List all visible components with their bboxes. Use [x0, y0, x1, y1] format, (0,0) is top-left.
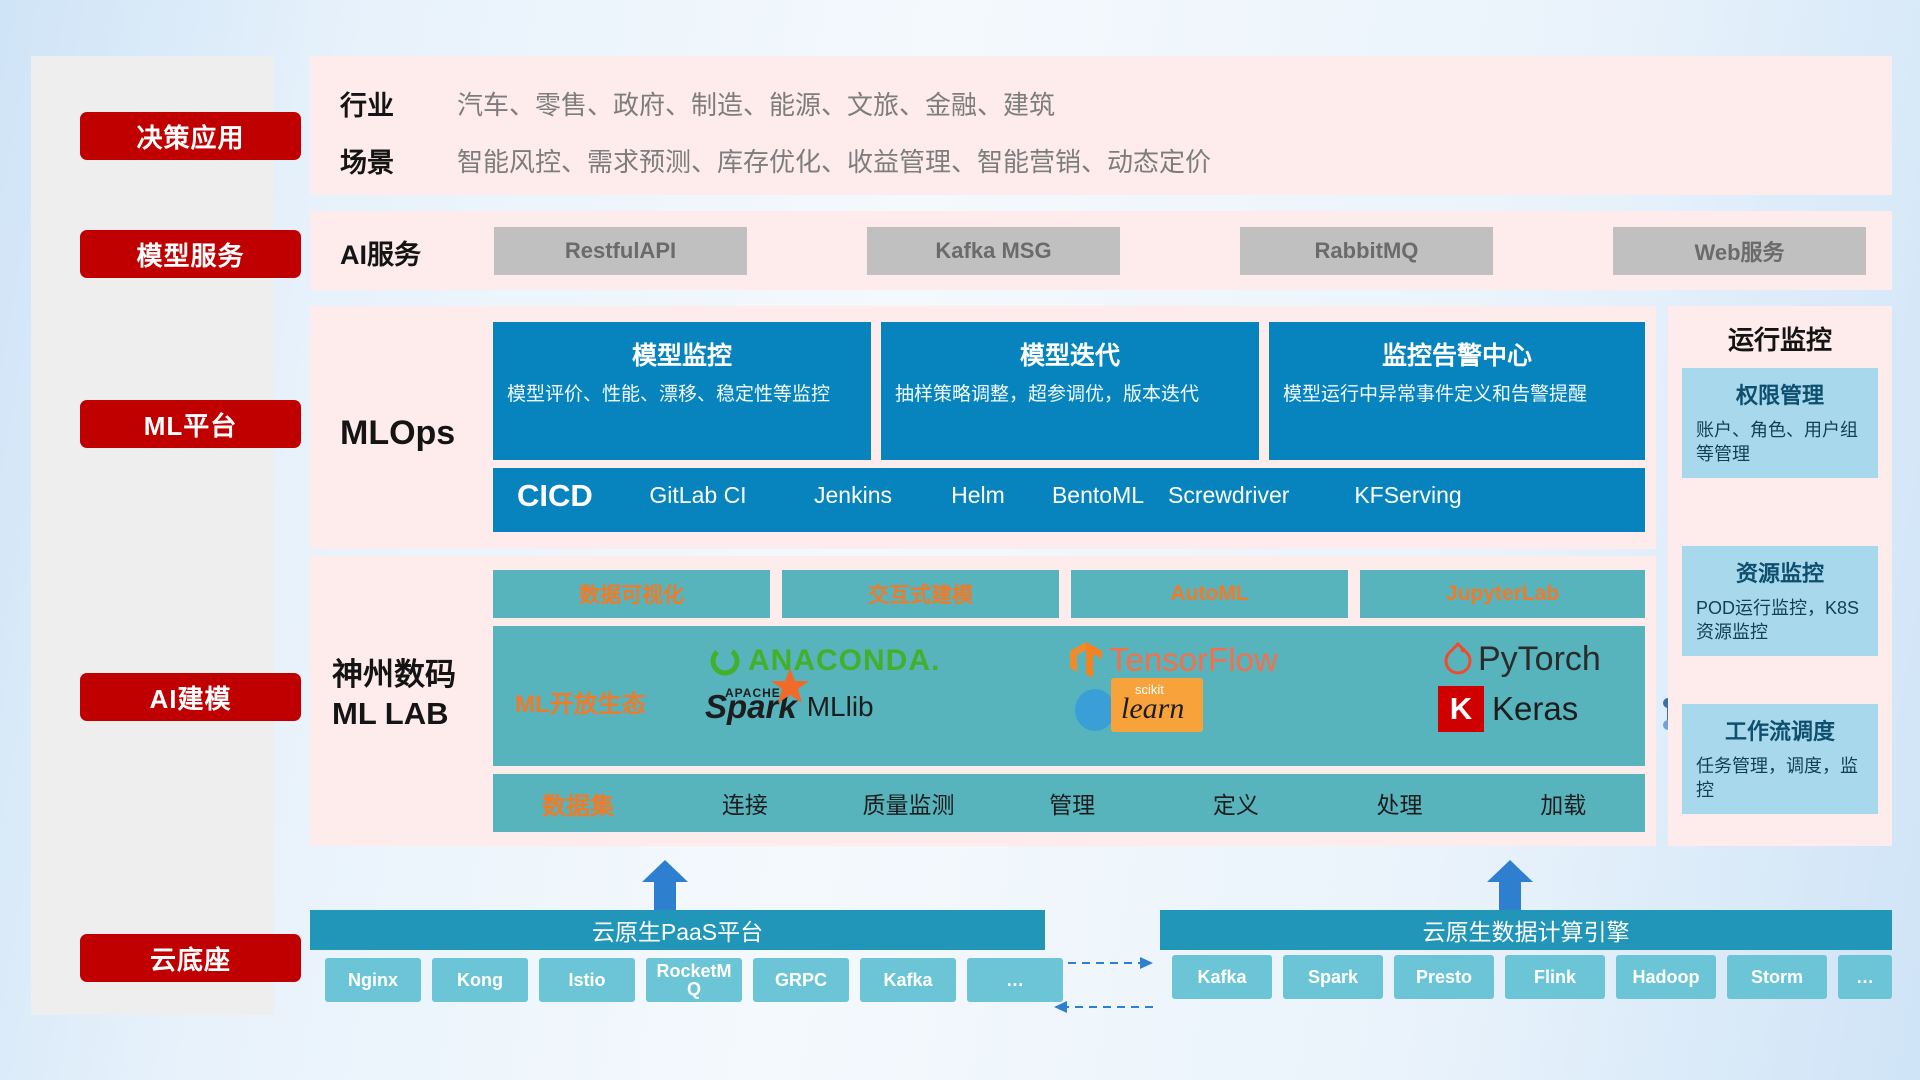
- tensorflow-logo: TensorFlow: [1068, 640, 1278, 680]
- ai-service-rabbitmq[interactable]: RabbitMQ: [1240, 227, 1493, 275]
- tab-automl[interactable]: AutoML: [1071, 570, 1348, 618]
- ml-lab-panel: 神州数码 ML LAB 数据可视化 交互式建模 AutoML JupyterLa…: [310, 556, 1656, 846]
- monitor-card-desc: 账户、角色、用户组等管理: [1696, 418, 1864, 467]
- mlops-card-title: 监控告警中心: [1269, 336, 1645, 372]
- dataset-item-define[interactable]: 定义: [1154, 786, 1318, 820]
- label-decision-app[interactable]: 决策应用: [80, 112, 301, 160]
- mlops-card-model-monitor[interactable]: 模型监控 模型评价、性能、漂移、稳定性等监控: [493, 322, 871, 460]
- ai-service-panel: AI服务 RestfulAPI Kafka MSG RabbitMQ Web服务: [310, 211, 1892, 290]
- mlops-label: MLOps: [340, 414, 455, 453]
- chip-flink[interactable]: Flink: [1505, 955, 1605, 999]
- keras-logo: K Keras: [1438, 686, 1578, 732]
- ml-lab-label-line1: 神州数码: [332, 656, 487, 695]
- runtime-monitoring-title: 运行监控: [1668, 320, 1892, 357]
- chip-storm[interactable]: Storm: [1727, 955, 1827, 999]
- mlops-card-desc: 模型运行中异常事件定义和告警提醒: [1283, 382, 1631, 408]
- scenario-value: 智能风控、需求预测、库存优化、收益管理、智能营销、动态定价: [457, 142, 1211, 179]
- bidirectional-dashed-arrow-icon: [1050, 945, 1155, 1025]
- spark-mllib-logo: APACHE Spark MLlib: [705, 688, 874, 726]
- cicd-item-kfserving[interactable]: KFServing: [1348, 484, 1468, 507]
- scikit-learn-logo: scikit learn: [1073, 686, 1129, 732]
- tab-interactive-modeling[interactable]: 交互式建模: [782, 570, 1059, 618]
- cicd-item-screwdriver[interactable]: Screwdriver: [1168, 484, 1288, 507]
- cicd-bar: CICD GitLab CI Jenkins Helm BentoML Scre…: [493, 468, 1645, 532]
- scikit-learn-wordmark: learn: [1121, 692, 1184, 726]
- cicd-item-gitlab-ci[interactable]: GitLab CI: [638, 484, 758, 507]
- dataset-item-process[interactable]: 处理: [1318, 786, 1482, 820]
- cicd-item-bentoml[interactable]: BentoML: [1038, 484, 1158, 507]
- tensorflow-wordmark: TensorFlow: [1109, 641, 1278, 679]
- scenario-label: 场景: [340, 141, 394, 180]
- monitor-card-title: 权限管理: [1682, 378, 1878, 410]
- label-ml-platform[interactable]: ML平台: [80, 400, 301, 448]
- mlops-card-desc: 模型评价、性能、漂移、稳定性等监控: [507, 382, 857, 408]
- chip-rocketmq-line2: Q: [687, 979, 701, 999]
- chip-kong[interactable]: Kong: [432, 958, 528, 1002]
- label-cloud-base[interactable]: 云底座: [80, 934, 301, 982]
- chip-rocketmq-line1: RocketM: [656, 961, 731, 981]
- mlops-panel: MLOps 模型监控 模型评价、性能、漂移、稳定性等监控 模型迭代 抽样策略调整…: [310, 306, 1656, 549]
- keras-mark-icon: K: [1438, 686, 1484, 732]
- mlops-card-model-iteration[interactable]: 模型迭代 抽样策略调整，超参调优，版本迭代: [881, 322, 1259, 460]
- arrow-up-right-icon: [1485, 860, 1535, 912]
- monitor-card-title: 资源监控: [1682, 556, 1878, 588]
- left-label-column: 决策应用 模型服务 ML平台 AI建模 云底座: [31, 56, 274, 1015]
- chip-presto[interactable]: Presto: [1394, 955, 1494, 999]
- tab-data-visualization[interactable]: 数据可视化: [493, 570, 770, 618]
- chip-nginx[interactable]: Nginx: [325, 958, 421, 1002]
- monitor-card-title: 工作流调度: [1682, 714, 1878, 746]
- ml-lab-label-line2: ML LAB: [332, 695, 487, 734]
- chip-istio[interactable]: Istio: [539, 958, 635, 1002]
- chip-grpc[interactable]: GRPC: [753, 958, 849, 1002]
- chip-spark[interactable]: Spark: [1283, 955, 1383, 999]
- chip-more-left[interactable]: …: [967, 958, 1063, 1002]
- ai-service-web[interactable]: Web服务: [1613, 227, 1866, 275]
- mllib-wordmark: MLlib: [807, 691, 874, 723]
- ai-service-label: AI服务: [340, 233, 421, 272]
- dataset-band: 数据集 连接 质量监测 管理 定义 处理 加载: [493, 774, 1645, 832]
- cicd-title: CICD: [517, 478, 593, 514]
- anaconda-logo: ANACONDA.: [708, 644, 940, 678]
- keras-wordmark: Keras: [1492, 690, 1578, 728]
- dataset-item-quality[interactable]: 质量监测: [827, 786, 991, 820]
- ai-service-restfulapi[interactable]: RestfulAPI: [494, 227, 747, 275]
- cloud-paas-bar[interactable]: 云原生PaaS平台: [310, 910, 1045, 950]
- dataset-item-manage[interactable]: 管理: [990, 786, 1154, 820]
- chip-more-right[interactable]: …: [1838, 955, 1892, 999]
- cloud-data-engine-bar[interactable]: 云原生数据计算引擎: [1160, 910, 1892, 950]
- industry-scenario-panel: 行业 汽车、零售、政府、制造、能源、文旅、金融、建筑 场景 智能风控、需求预测、…: [310, 56, 1892, 195]
- pytorch-mark-icon: [1443, 642, 1473, 678]
- chip-rocketmq[interactable]: RocketM Q: [646, 958, 742, 1002]
- pytorch-wordmark: PyTorch: [1478, 640, 1601, 679]
- ai-service-kafka-msg[interactable]: Kafka MSG: [867, 227, 1120, 275]
- industry-label: 行业: [340, 84, 394, 123]
- label-ai-modeling[interactable]: AI建模: [80, 673, 301, 721]
- cicd-item-jenkins[interactable]: Jenkins: [793, 484, 913, 507]
- mlops-card-alert-center[interactable]: 监控告警中心 模型运行中异常事件定义和告警提醒: [1269, 322, 1645, 460]
- runtime-monitoring-panel: 运行监控 权限管理 账户、角色、用户组等管理 资源监控 POD运行监控，K8S资…: [1668, 306, 1892, 846]
- spark-apache-text: APACHE: [725, 686, 781, 700]
- chip-hadoop[interactable]: Hadoop: [1616, 955, 1716, 999]
- monitor-card-resource[interactable]: 资源监控 POD运行监控，K8S资源监控: [1682, 546, 1878, 656]
- tensorflow-mark-icon: [1068, 640, 1104, 680]
- monitor-card-desc: 任务管理，调度，监控: [1696, 754, 1864, 803]
- cicd-item-helm[interactable]: Helm: [918, 484, 1038, 507]
- monitor-card-workflow[interactable]: 工作流调度 任务管理，调度，监控: [1682, 704, 1878, 814]
- industry-value: 汽车、零售、政府、制造、能源、文旅、金融、建筑: [457, 85, 1055, 122]
- arrow-up-left-icon: [640, 860, 690, 912]
- anaconda-mark-icon: [708, 644, 742, 678]
- ml-ecosystem-label: ML开放生态: [515, 684, 646, 719]
- ml-ecosystem-band: ML开放生态 ANACONDA. TensorFlow: [493, 626, 1645, 766]
- chip-kafka-right[interactable]: Kafka: [1172, 955, 1272, 999]
- monitor-card-permission[interactable]: 权限管理 账户、角色、用户组等管理: [1682, 368, 1878, 478]
- mlops-card-title: 模型迭代: [881, 336, 1259, 372]
- mlops-card-desc: 抽样策略调整，超参调优，版本迭代: [895, 382, 1245, 408]
- chip-kafka-left[interactable]: Kafka: [860, 958, 956, 1002]
- mlops-card-title: 模型监控: [493, 336, 871, 372]
- dataset-item-connect[interactable]: 连接: [663, 786, 827, 820]
- ml-lab-label: 神州数码 ML LAB: [332, 656, 487, 734]
- dataset-title: 数据集: [493, 786, 663, 821]
- tab-jupyterlab[interactable]: JupyterLab: [1360, 570, 1645, 618]
- label-model-service[interactable]: 模型服务: [80, 230, 301, 278]
- dataset-item-load[interactable]: 加载: [1481, 786, 1645, 820]
- monitor-card-desc: POD运行监控，K8S资源监控: [1696, 596, 1864, 645]
- pytorch-logo: PyTorch: [1443, 640, 1601, 679]
